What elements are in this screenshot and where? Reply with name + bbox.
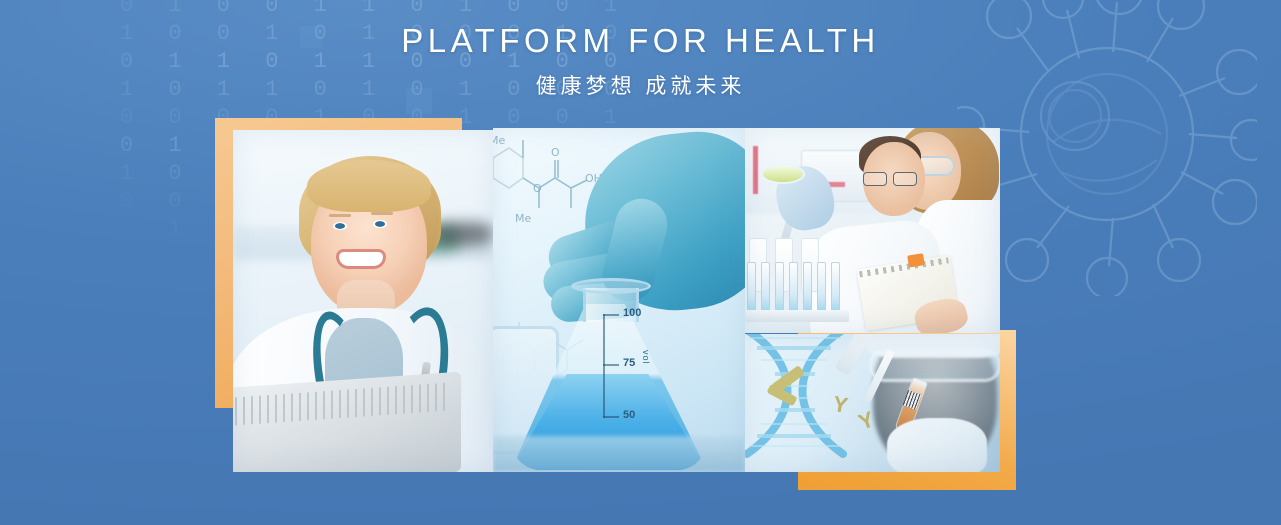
binary-row: 0 1 0 0 1 1 0 1 0 0 1 0 0 1 0 1 1 0 [120,0,640,20]
flask-graduation-75: 75 [623,357,635,369]
photo-flask: Me Me O O OH [493,128,745,472]
banner-headings: PLATFORM FOR HEALTH 健康梦想 成就未来 [0,24,1281,100]
page-title: PLATFORM FOR HEALTH [0,24,1281,59]
photo-smiling-doctor [233,130,493,472]
svg-text:Me: Me [515,212,531,225]
test-tube-rack [745,236,849,322]
page-subtitle: 健康梦想 成就未来 [0,70,1281,100]
svg-text:Me: Me [493,134,505,147]
flask-graduation-50: 50 [623,409,635,421]
flask-graduation-100: 100 [623,307,641,319]
svg-text:O: O [551,146,560,159]
photo-dna-researcher: Y Y Y [745,334,1000,472]
health-platform-banner: 0 1 0 0 1 1 0 1 0 0 1 0 0 1 0 1 1 01 0 0… [0,0,1281,525]
petri-dish [763,166,803,182]
flask-volume-label: vol [641,350,651,365]
svg-text:O: O [533,182,542,195]
photo-lab-scientists [745,128,1000,333]
